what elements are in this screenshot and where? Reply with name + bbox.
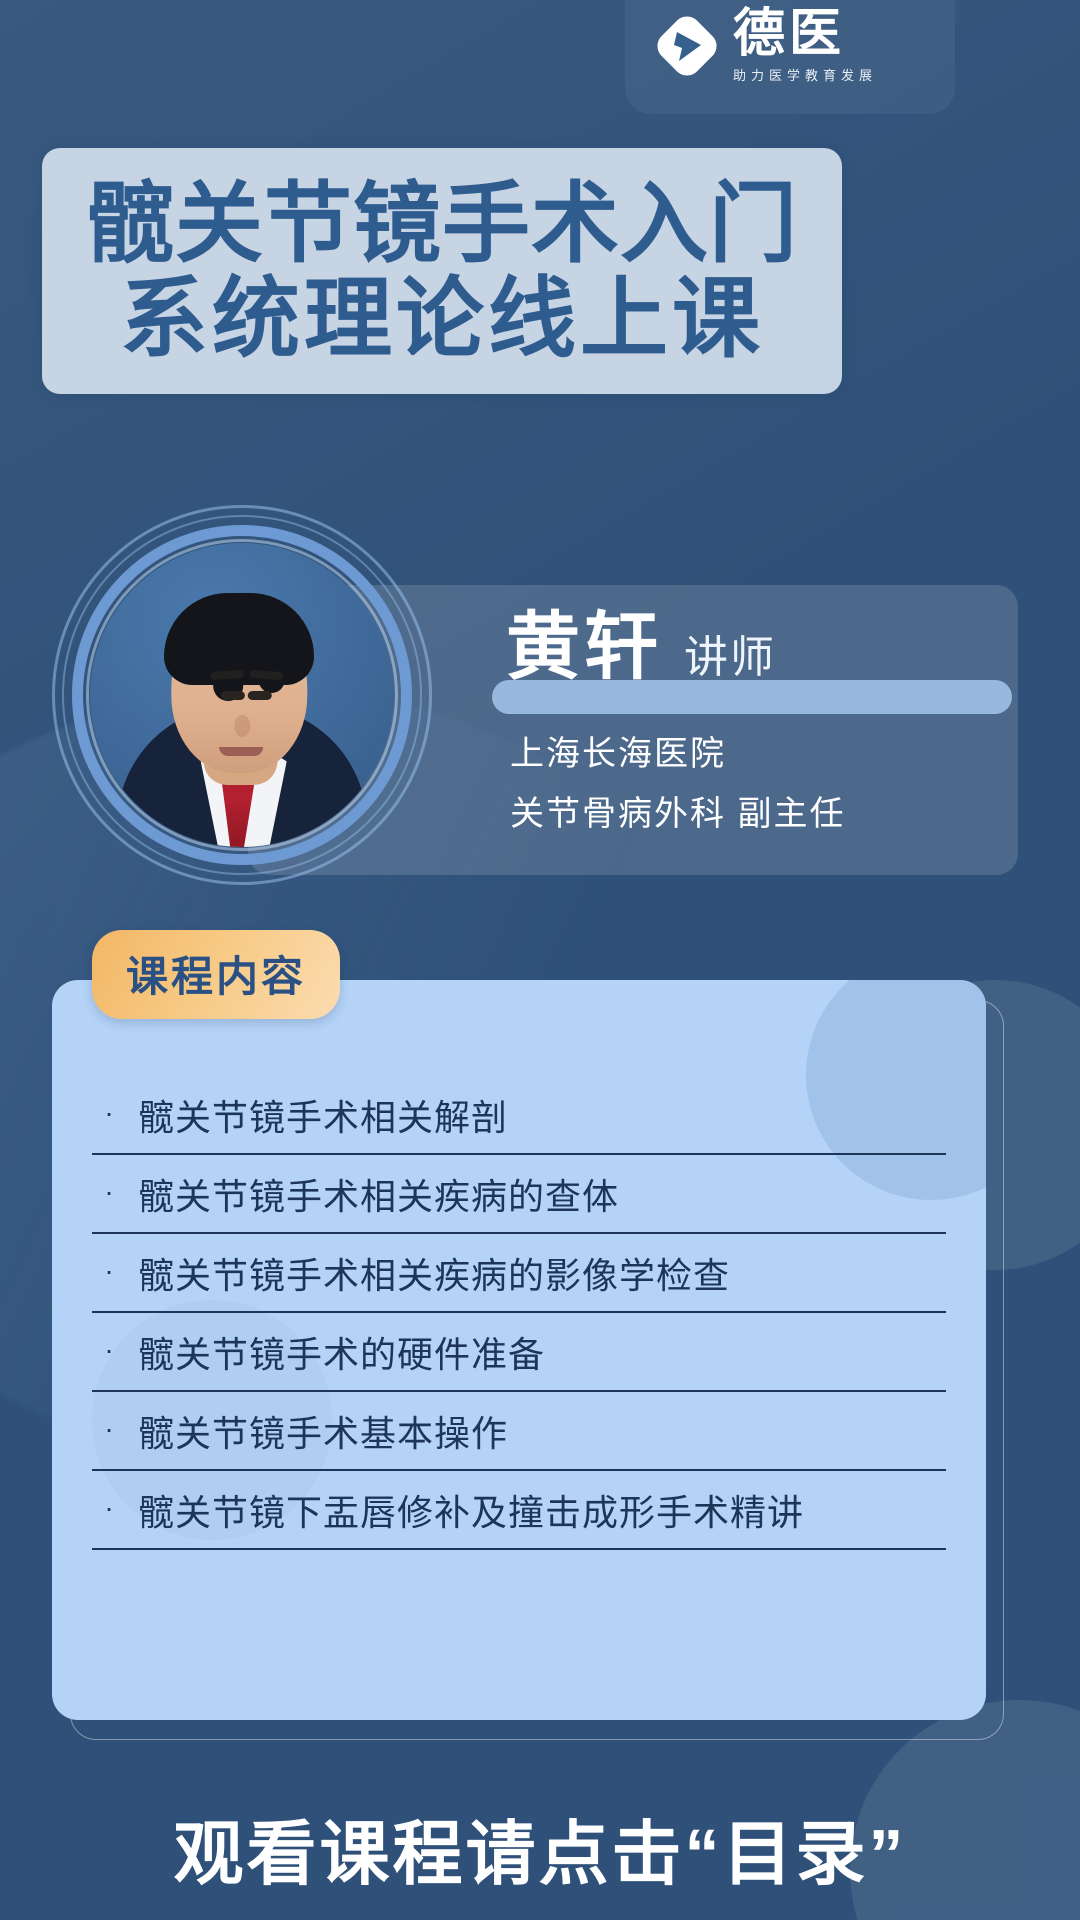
list-item[interactable]: · 髋关节镜手术的硬件准备 (92, 1313, 946, 1392)
page-title-line-1: 髋关节镜手术入门 (86, 176, 798, 271)
bullet-icon: · (102, 1178, 116, 1206)
list-item[interactable]: · 髋关节镜手术相关解剖 (92, 1076, 946, 1155)
bullet-icon: · (102, 1257, 116, 1285)
list-item-label: 髋关节镜手术的硬件准备 (138, 1326, 545, 1378)
bullet-icon: · (102, 1099, 116, 1127)
brand-logo: 德医 助力医学教育发展 (655, 10, 877, 82)
logo-play-glyph (655, 14, 719, 78)
speaker-portrait-frame (42, 495, 442, 895)
list-item-label: 髋关节镜手术相关解剖 (138, 1089, 508, 1141)
poster-root: 德医 助力医学教育发展 髋关节镜手术入门 系统理论线上课 (0, 0, 1080, 1920)
speaker-role: 讲师 (684, 636, 776, 684)
list-item[interactable]: · 髋关节镜手术基本操作 (92, 1392, 946, 1471)
list-item[interactable]: · 髋关节镜下盂唇修补及撞击成形手术精讲 (92, 1471, 946, 1550)
portrait-nose (234, 715, 250, 737)
list-item-label: 髋关节镜下盂唇修补及撞击成形手术精讲 (138, 1484, 804, 1536)
list-item-label: 髋关节镜手术基本操作 (138, 1405, 508, 1457)
portrait-mouth (219, 747, 263, 756)
speaker-name-row: 黄轩 讲师 (506, 610, 776, 684)
list-item-label: 髋关节镜手术相关疾病的查体 (138, 1168, 619, 1220)
page-title-card: 髋关节镜手术入门 系统理论线上课 (42, 148, 842, 394)
bullet-icon: · (102, 1336, 116, 1364)
brand-wordmark: 德医 助力医学教育发展 (733, 8, 877, 84)
portrait-eye-left (221, 691, 245, 700)
speaker-affiliation-hospital: 上海长海医院 (510, 726, 726, 775)
footer-cta: 观看课程请点击“目录” (0, 1798, 1080, 1899)
footer-cta-label: 观看课程请点击“目录” (174, 1815, 907, 1893)
list-item[interactable]: · 髋关节镜手术相关疾病的影像学检查 (92, 1234, 946, 1313)
speaker-name: 黄轩 (506, 610, 662, 684)
bullet-icon: · (102, 1415, 116, 1443)
brand-name: 德医 (733, 8, 877, 60)
play-diamond-icon (655, 14, 719, 78)
speaker-affiliation-department: 关节骨病外科 副主任 (510, 786, 845, 835)
list-item[interactable]: · 髋关节镜手术相关疾病的查体 (92, 1155, 946, 1234)
brand-tagline: 助力医学教育发展 (733, 65, 877, 84)
speaker-portrait-photo (90, 543, 394, 847)
portrait-eye-right (248, 691, 272, 700)
page-title-line-2: 系统理论线上课 (120, 271, 764, 366)
portrait-hair-right (259, 635, 285, 693)
course-item-list: · 髋关节镜手术相关解剖 · 髋关节镜手术相关疾病的查体 · 髋关节镜手术相关疾… (52, 980, 986, 1550)
list-item-label: 髋关节镜手术相关疾病的影像学检查 (138, 1247, 730, 1299)
bullet-icon: · (102, 1494, 116, 1522)
